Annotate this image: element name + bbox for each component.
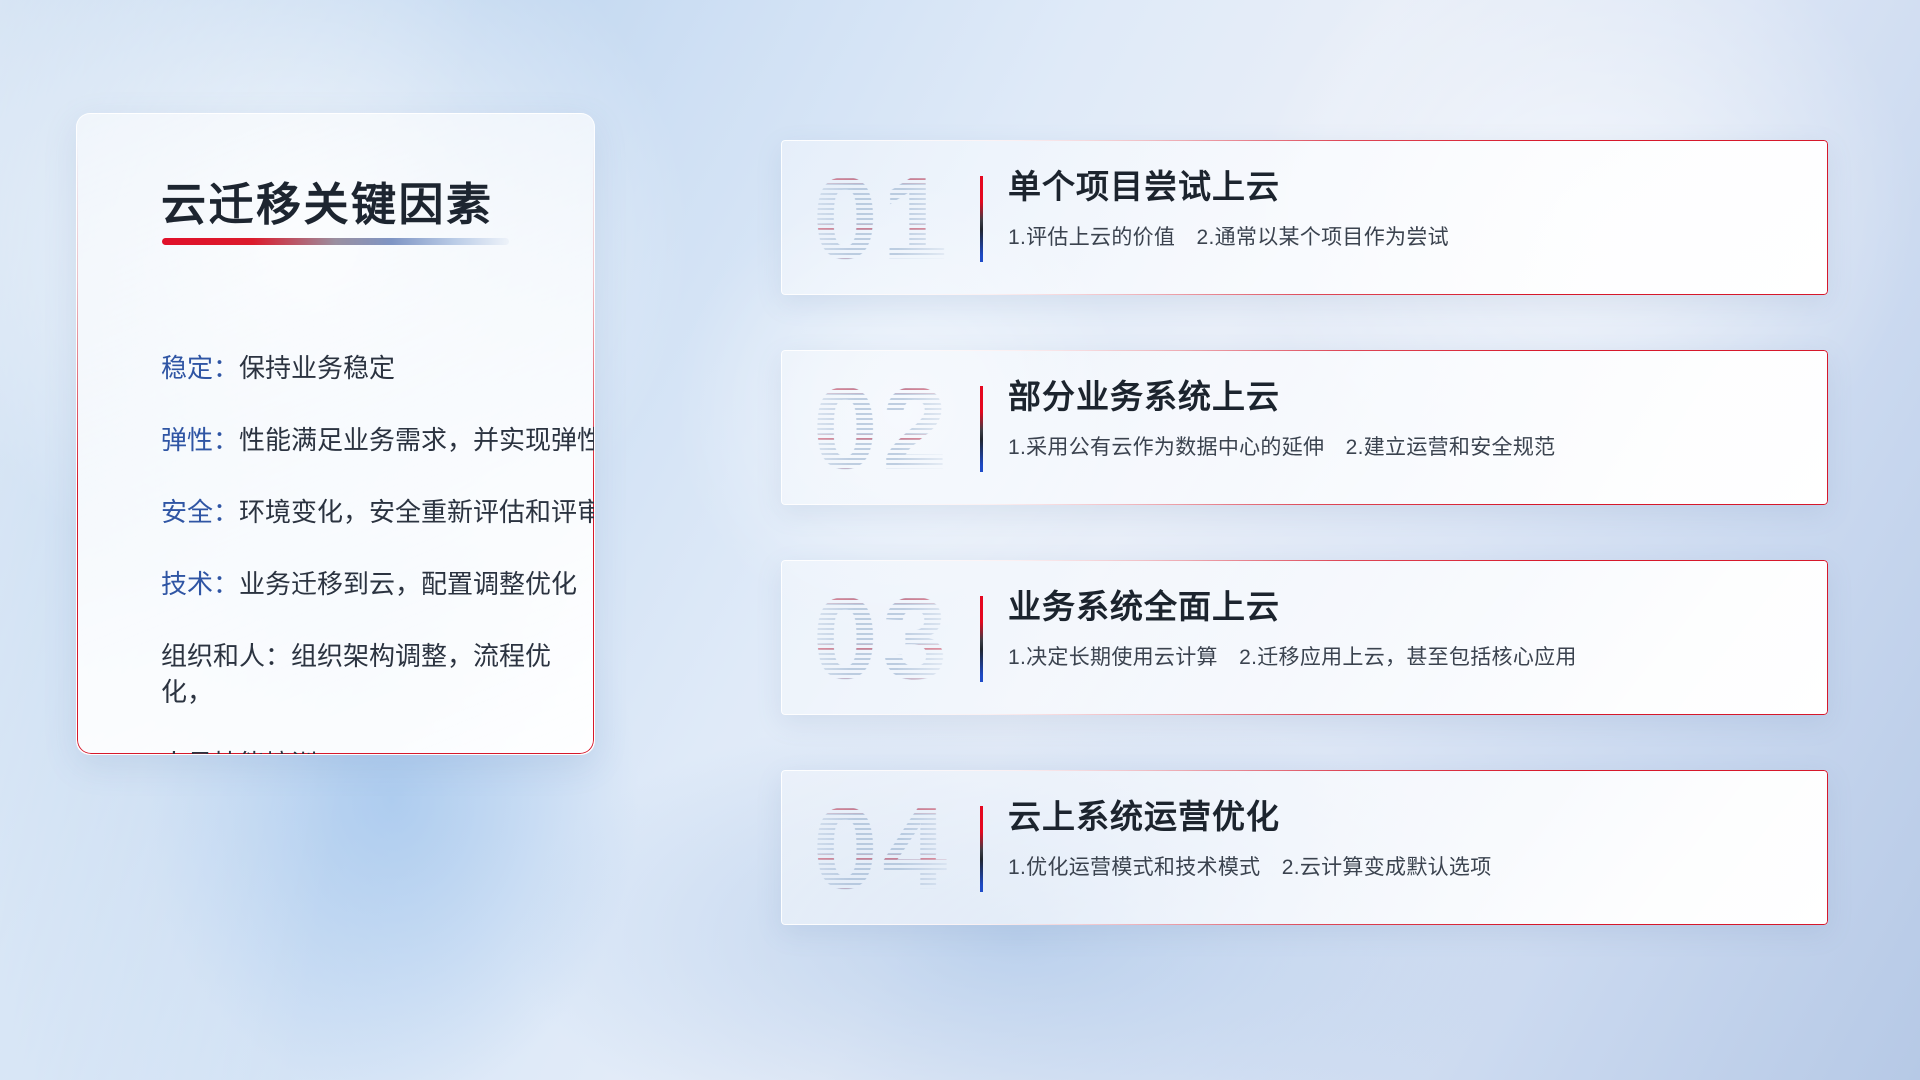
factor-value: 环境变化，安全重新评估和评审 <box>239 497 595 527</box>
step-accent-bar <box>980 596 983 682</box>
step-description: 1.评估上云的价值 2.通常以某个项目作为尝试 <box>1008 222 1800 254</box>
list-item: 稳定：保持业务稳定 <box>161 350 568 386</box>
list-item[interactable]: 01 01 单个项目尝试上云 1.评估上云的价值 2.通常以某个项目作为尝试 <box>781 140 1828 295</box>
step-content: 单个项目尝试上云 1.评估上云的价值 2.通常以某个项目作为尝试 <box>1008 164 1800 254</box>
list-item[interactable]: 03 03 业务系统全面上云 1.决定长期使用云计算 2.迁移应用上云，甚至包括… <box>781 560 1828 715</box>
list-item: 组织和人：组织架构调整，流程优化， 人员技能培训 <box>161 638 568 755</box>
factor-value-continuation: 人员技能培训 <box>161 746 568 755</box>
step-number-ghost-red-lines: 03 <box>813 568 952 708</box>
step-title: 云上系统运营优化 <box>1008 794 1800 840</box>
key-factors-list: 稳定：保持业务稳定 弹性：性能满足业务需求，并实现弹性 安全：环境变化，安全重新… <box>161 350 568 755</box>
step-title: 业务系统全面上云 <box>1008 584 1800 630</box>
factor-label: 弹性： <box>161 425 239 455</box>
step-number-ghost-red-lines: 04 <box>813 778 952 918</box>
step-title: 单个项目尝试上云 <box>1008 164 1800 210</box>
list-item: 弹性：性能满足业务需求，并实现弹性 <box>161 422 568 458</box>
step-content: 业务系统全面上云 1.决定长期使用云计算 2.迁移应用上云，甚至包括核心应用 <box>1008 584 1800 674</box>
list-item: 技术：业务迁移到云，配置调整优化 <box>161 566 568 602</box>
factor-label: 稳定： <box>161 353 239 383</box>
step-content: 云上系统运营优化 1.优化运营模式和技术模式 2.云计算变成默认选项 <box>1008 794 1800 884</box>
step-accent-bar <box>980 176 983 262</box>
migration-steps-list: 01 01 单个项目尝试上云 1.评估上云的价值 2.通常以某个项目作为尝试 0… <box>781 140 1828 925</box>
page-title: 云迁移关键因素 <box>161 168 494 233</box>
step-description: 1.决定长期使用云计算 2.迁移应用上云，甚至包括核心应用 <box>1008 642 1800 674</box>
factor-label: 组织和人： <box>161 641 291 671</box>
step-title: 部分业务系统上云 <box>1008 374 1800 420</box>
step-number-ghost-red-lines: 02 <box>813 358 952 498</box>
key-factors-panel: 云迁移关键因素 稳定：保持业务稳定 弹性：性能满足业务需求，并实现弹性 安全：环… <box>76 113 595 755</box>
factor-label: 安全： <box>161 497 239 527</box>
factor-label: 技术： <box>161 569 239 599</box>
list-item[interactable]: 02 02 部分业务系统上云 1.采用公有云作为数据中心的延伸 2.建立运营和安… <box>781 350 1828 505</box>
step-content: 部分业务系统上云 1.采用公有云作为数据中心的延伸 2.建立运营和安全规范 <box>1008 374 1800 464</box>
step-description: 1.采用公有云作为数据中心的延伸 2.建立运营和安全规范 <box>1008 432 1800 464</box>
factor-value: 性能满足业务需求，并实现弹性 <box>239 425 595 455</box>
list-item: 安全：环境变化，安全重新评估和评审 <box>161 494 568 530</box>
factor-value: 保持业务稳定 <box>239 353 395 383</box>
step-accent-bar <box>980 386 983 472</box>
slide-stage: 云迁移关键因素 稳定：保持业务稳定 弹性：性能满足业务需求，并实现弹性 安全：环… <box>0 0 1920 1080</box>
title-underline-gradient <box>162 238 509 245</box>
list-item[interactable]: 04 04 云上系统运营优化 1.优化运营模式和技术模式 2.云计算变成默认选项 <box>781 770 1828 925</box>
factor-value: 业务迁移到云，配置调整优化 <box>239 569 577 599</box>
step-description: 1.优化运营模式和技术模式 2.云计算变成默认选项 <box>1008 852 1800 884</box>
step-accent-bar <box>980 806 983 892</box>
step-number-ghost-red-lines: 01 <box>813 148 952 288</box>
